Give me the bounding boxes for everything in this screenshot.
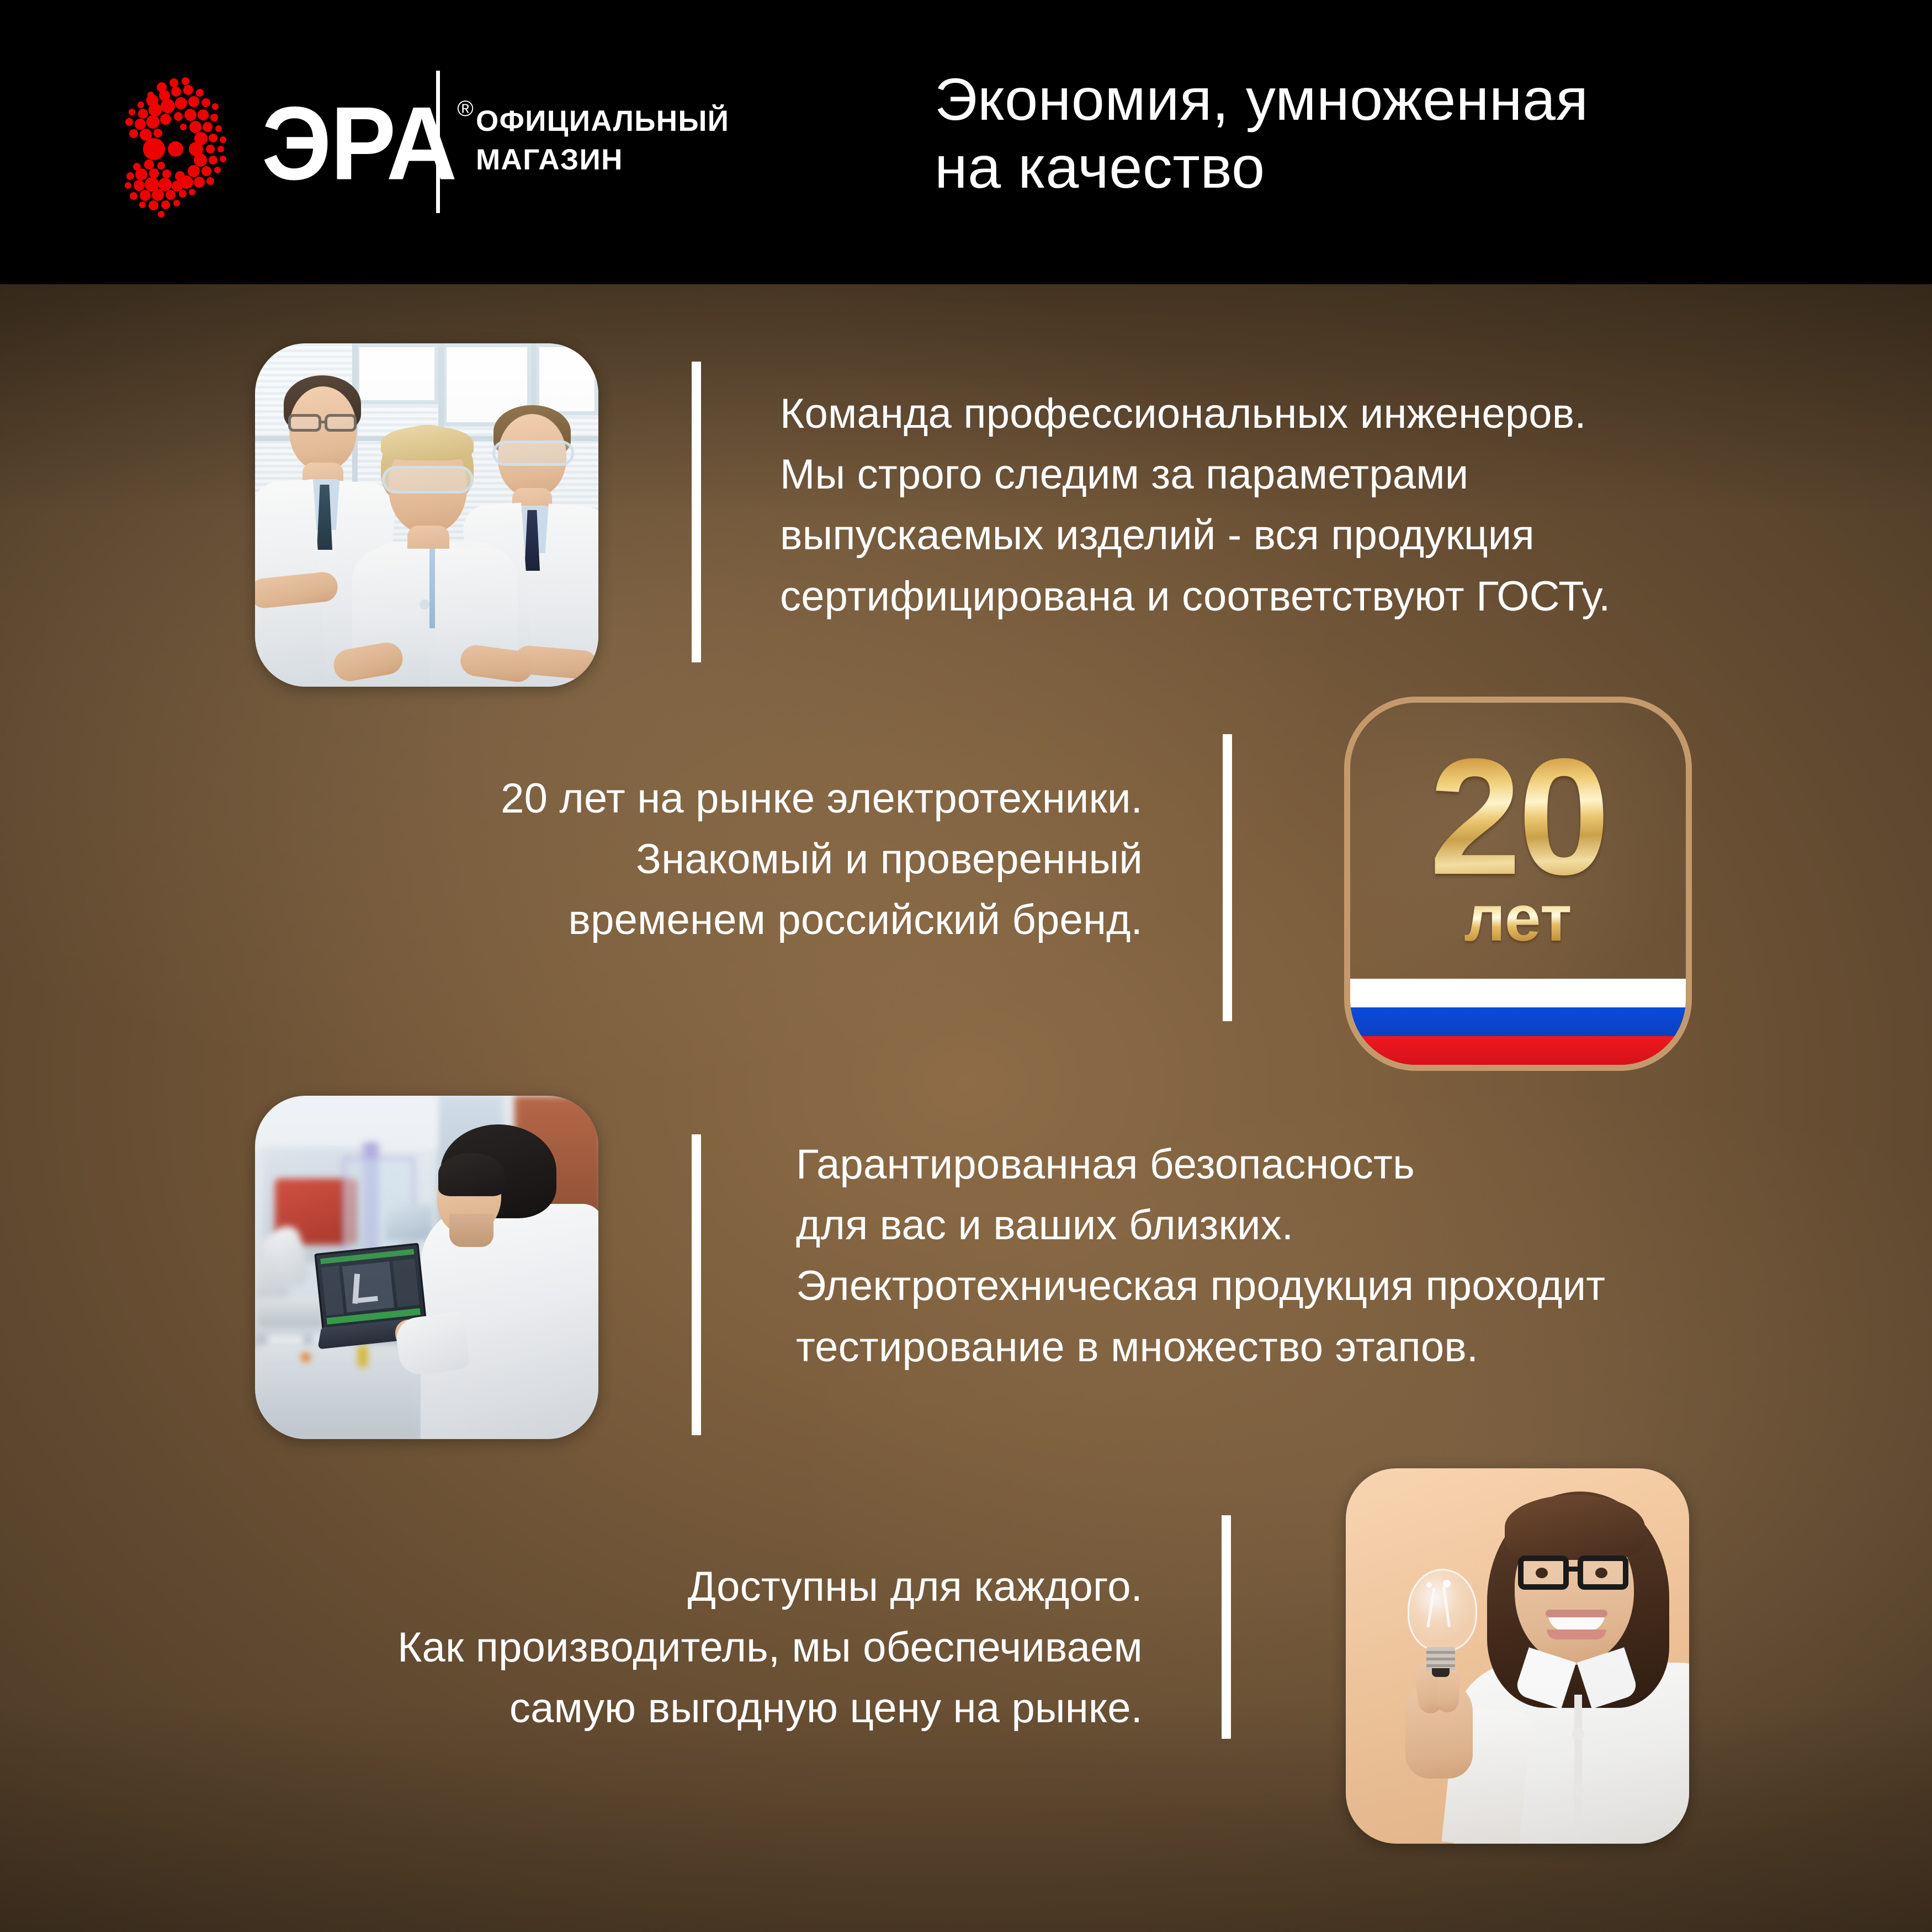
official-store-label: ОФИЦИАЛЬНЫЙ МАГАЗИН [476, 102, 729, 179]
official-store-line-2: МАГАЗИН [476, 141, 729, 179]
lab-technician-photo [255, 1096, 598, 1439]
block-4-divider [1222, 1515, 1231, 1739]
trademark-symbol: ® [457, 97, 473, 121]
engineers-team-photo [255, 343, 598, 687]
official-store-line-1: ОФИЦИАЛЬНЫЙ [476, 102, 729, 141]
block-4-text: Доступны для каждого. Как производитель,… [210, 1557, 1143, 1739]
twenty-years-badge: 20 лет [1344, 697, 1692, 1071]
block-3-text: Гарантированная безопасность для вас и в… [796, 1134, 1845, 1378]
block-2-divider [1223, 734, 1232, 1021]
header-divider [436, 71, 440, 213]
brand-wordmark: ЭРА ® [262, 94, 474, 193]
russian-flag-icon [1350, 979, 1686, 1065]
block-1-text: Команда профессиональных инженеров. Мы с… [780, 384, 1829, 627]
era-dotted-eye-logo-icon [120, 66, 258, 221]
brand-name: ЭРА [262, 92, 456, 196]
badge-inner: 20 лет [1350, 703, 1686, 1065]
badge-number: 20 [1350, 734, 1686, 899]
badge-caption: лет [1350, 886, 1686, 951]
block-3-divider [692, 1134, 701, 1435]
page-header: ЭРА ® ОФИЦИАЛЬНЫЙ МАГАЗИН Экономия, умно… [0, 0, 1932, 284]
block-1-divider [692, 362, 701, 662]
woman-with-bulb-photo [1346, 1468, 1689, 1844]
block-2-text: 20 лет на рынке электротехники. Знакомый… [265, 768, 1143, 951]
page-title: Экономия, умноженная на качество [935, 65, 1884, 201]
